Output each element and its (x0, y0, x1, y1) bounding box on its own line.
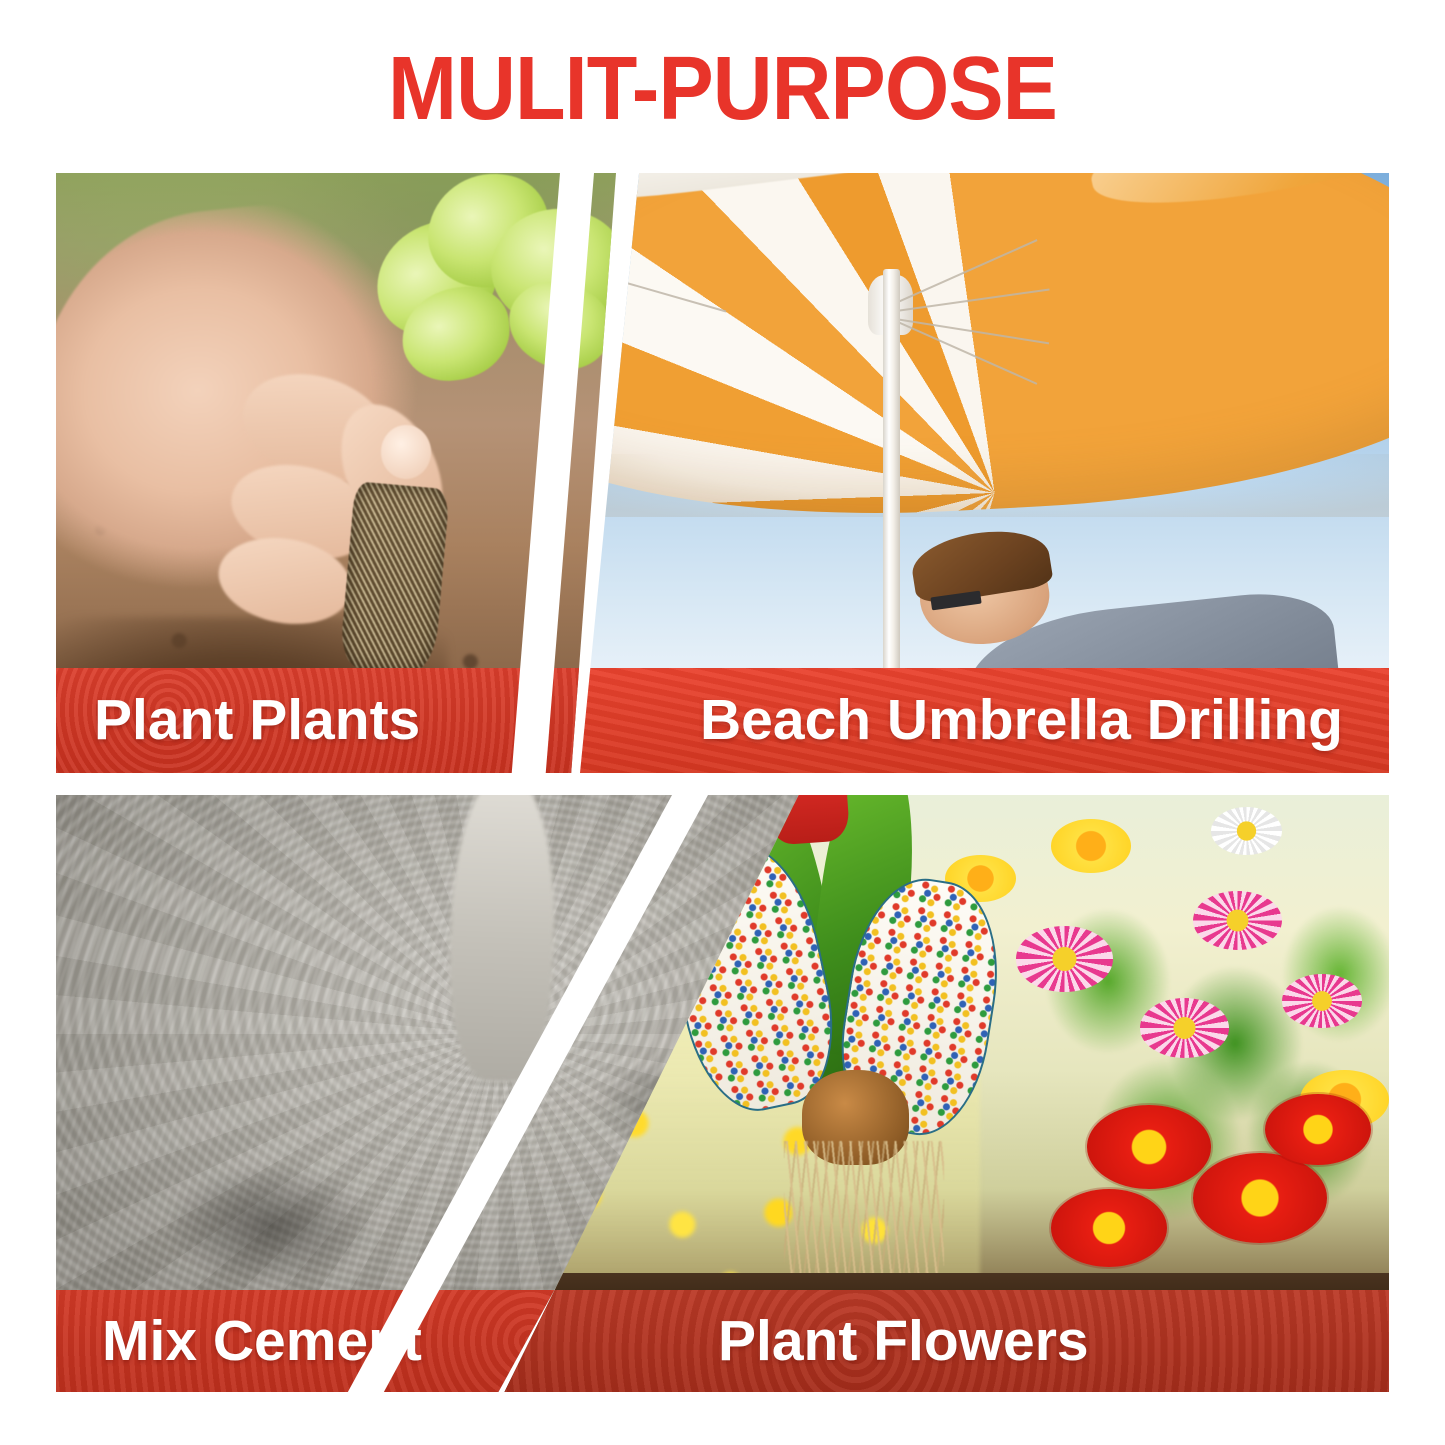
caption-label-plant-flowers: Plant Flowers (718, 1313, 1089, 1370)
umbrella-rim (580, 454, 1389, 517)
root-plug (339, 481, 450, 675)
panel-row-bottom: Mix Cement (56, 795, 1389, 1392)
caption-label-beach-umbrella: Beach Umbrella Drilling (700, 692, 1343, 749)
panel-beach-umbrella-drilling[interactable]: Beach Umbrella Drilling (580, 173, 1389, 773)
panel-row-top: Plant Plants (56, 173, 1389, 773)
cement-shadow-1 (167, 1165, 372, 1284)
red-primrose-4 (1265, 1094, 1372, 1166)
pink-daisy-2 (1193, 891, 1282, 951)
red-primrose-2 (1193, 1153, 1326, 1243)
caption-label-plant-plants: Plant Plants (94, 692, 420, 749)
caption-band-beach-umbrella: Beach Umbrella Drilling (580, 668, 1389, 773)
page-title: MULIT-PURPOSE (58, 44, 1387, 134)
pink-daisy-3 (1140, 998, 1229, 1058)
white-daisy-1 (1211, 807, 1282, 855)
product-feature-collage: MULIT-PURPOSE (0, 0, 1445, 1445)
caption-band-plant-flowers: Plant Flowers (500, 1290, 1389, 1392)
pink-daisy-4 (1282, 974, 1362, 1028)
pink-daisy-1 (1016, 926, 1114, 992)
umbrella-group (580, 173, 1389, 509)
red-primrose-3 (1051, 1189, 1167, 1267)
red-primrose-1 (1087, 1105, 1211, 1189)
yellow-daffodil-1 (1051, 819, 1131, 873)
